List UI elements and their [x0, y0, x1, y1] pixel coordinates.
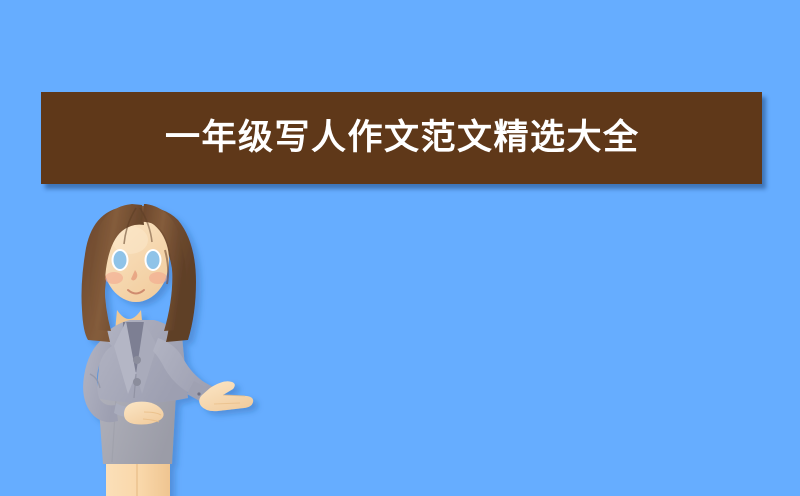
jacket-button-lower [133, 378, 141, 386]
title-banner: 一年级写人作文范文精选大全 [41, 92, 762, 184]
presenting-woman-illustration: 身穿灰色西装的卡通女性，右手向外伸出做介绍手势 [24, 198, 264, 496]
slide-canvas: 一年级写人作文范文精选大全 身穿灰色西装的卡通女性，右手向外伸出做介绍手势 [0, 0, 800, 496]
left-blush [105, 272, 123, 284]
cuff-button-1 [197, 392, 200, 395]
jacket-button-upper [133, 356, 141, 364]
right-blush [149, 272, 167, 284]
page-title: 一年级写人作文范文精选大全 [41, 121, 640, 156]
